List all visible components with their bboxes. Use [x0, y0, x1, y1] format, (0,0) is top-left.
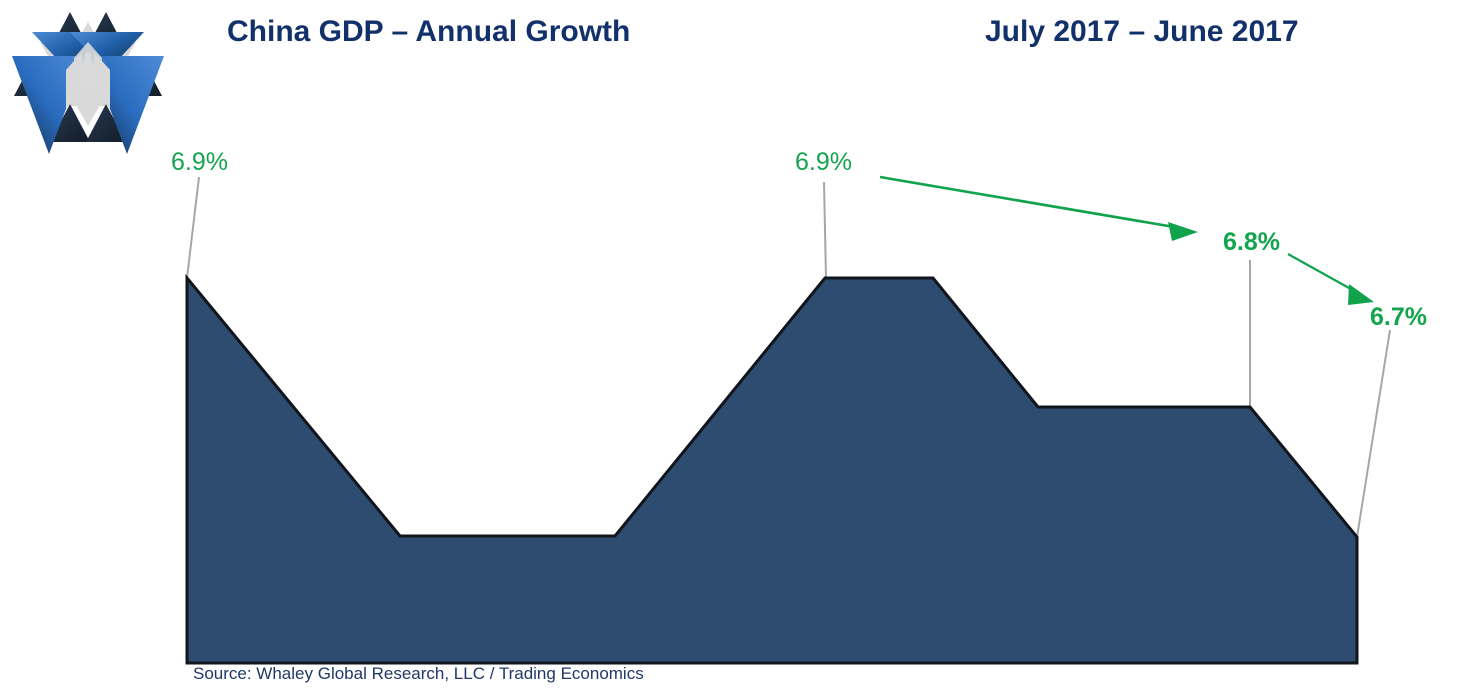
area-chart	[0, 0, 1465, 697]
gdp-area-fill	[187, 278, 1357, 663]
trend-arrow-major-line	[880, 177, 1180, 228]
leader-line-start	[187, 177, 199, 278]
leader-line-end	[1357, 330, 1390, 537]
trend-arrow-major-head	[1168, 222, 1198, 241]
trend-arrows	[880, 177, 1374, 305]
data-label-end: 6.7%	[1370, 303, 1427, 332]
trend-arrow-minor-line	[1288, 254, 1358, 293]
data-label-mid: 6.8%	[1223, 228, 1280, 257]
leader-line-peak	[824, 182, 826, 278]
trend-arrow-minor-head	[1348, 284, 1374, 305]
chart-page: China GDP – Annual Growth July 2017 – Ju…	[0, 0, 1465, 697]
source-note: Source: Whaley Global Research, LLC / Tr…	[193, 664, 644, 684]
data-label-peak: 6.9%	[795, 148, 852, 177]
data-label-start: 6.9%	[171, 148, 228, 177]
